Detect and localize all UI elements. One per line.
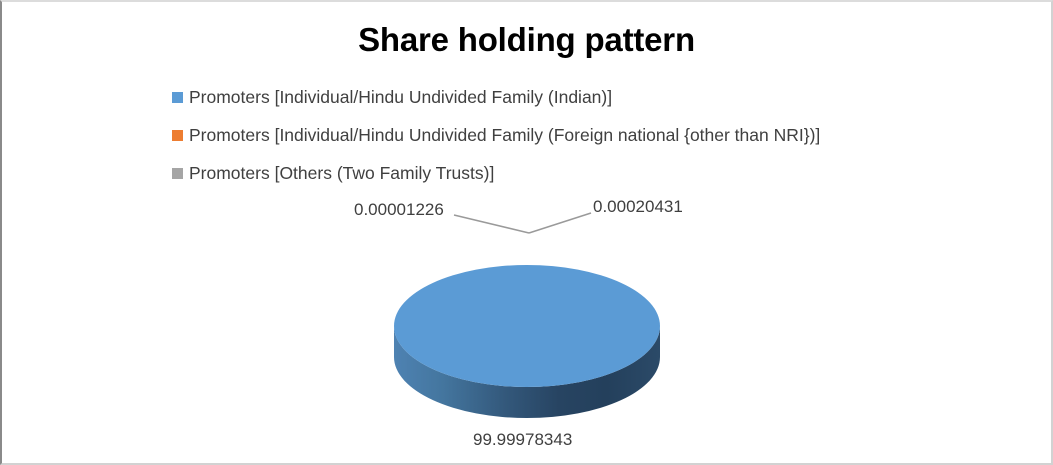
data-label-indian: 99.99978343 [473, 430, 572, 450]
leader-line-right [529, 213, 591, 233]
data-label-family-trusts: 0.00020431 [593, 197, 683, 217]
leader-lines [454, 213, 591, 233]
chart-container: Share holding pattern Promoters [Individ… [0, 0, 1053, 465]
leader-line-left [454, 215, 529, 233]
plot-area: 0.00001226 0.00020431 99.99978343 [2, 2, 1051, 463]
data-label-foreign-national: 0.00001226 [354, 200, 444, 220]
pie-slice-promoters-indian[interactable] [394, 265, 660, 387]
pie-chart-graphic [2, 2, 1051, 463]
